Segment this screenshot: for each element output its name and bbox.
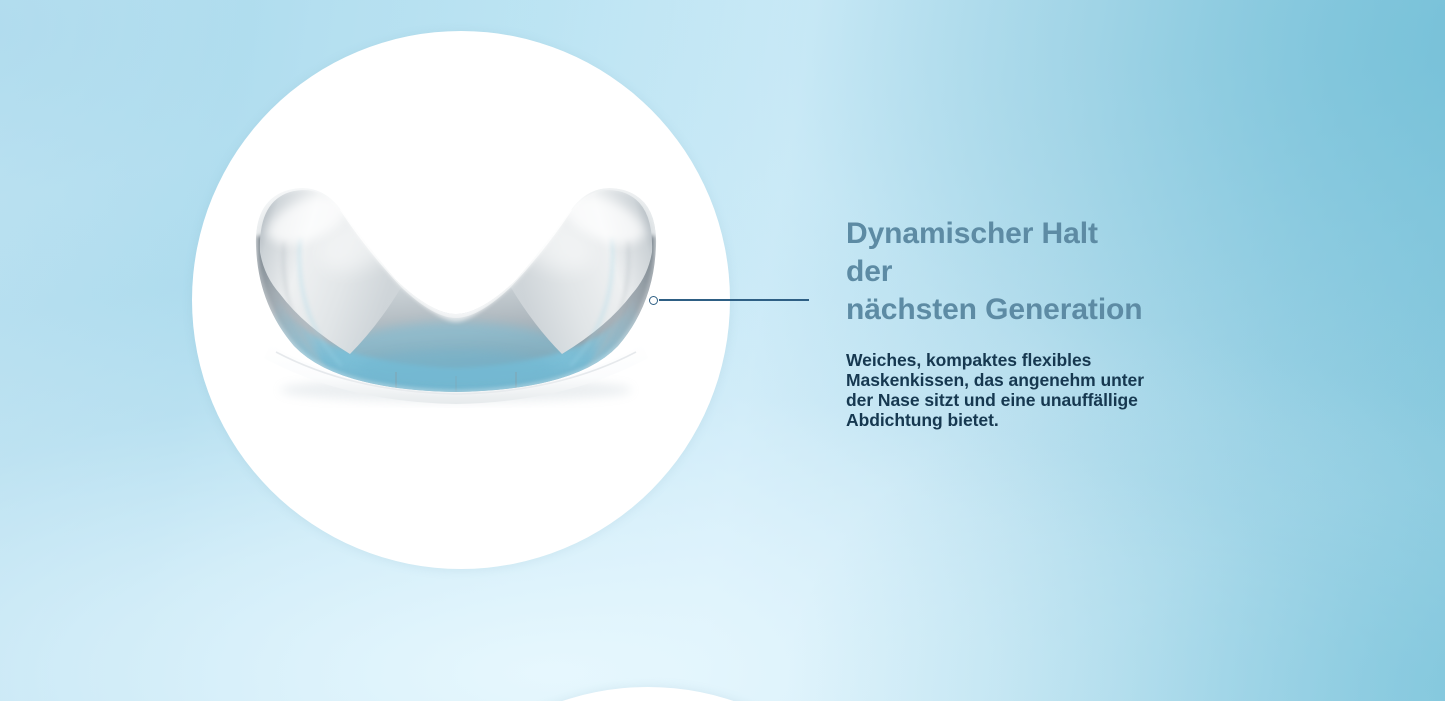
- product-feature-section: Dynamischer Halt der nächsten Generation…: [0, 0, 1445, 701]
- callout-heading: Dynamischer Halt der nächsten Generation: [846, 215, 1146, 329]
- nasal-cushion-image: [246, 176, 666, 408]
- callout-connector-dot-icon: [649, 296, 658, 305]
- secondary-product-image: [355, 682, 595, 701]
- callout-body-text: Weiches, kompaktes flexibles Maskenkisse…: [846, 350, 1146, 430]
- callout-text-block: Dynamischer Halt der nächsten Generation…: [846, 215, 1146, 430]
- callout-connector-line: [659, 299, 809, 301]
